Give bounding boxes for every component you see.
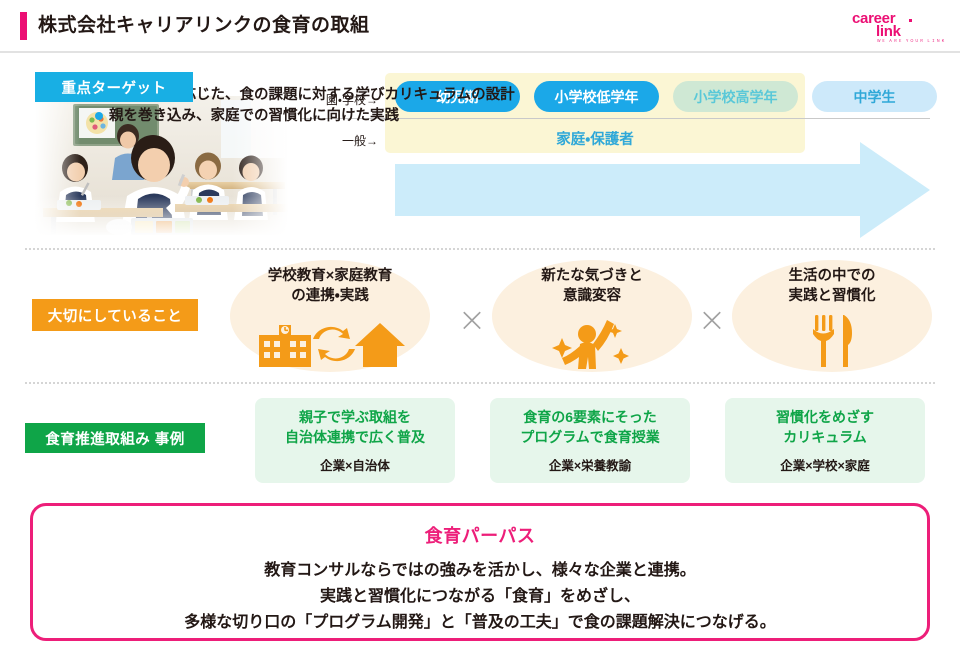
value-title-line1: 学校教育×家庭教育 [230, 266, 430, 286]
school-home-cycle-glyph [255, 313, 405, 369]
value-title: 学校教育×家庭教育 の連携・実践 [230, 266, 430, 306]
career-link-logo: career link ＷＥ ＡＲＥ ＹＯＵＲ ＬＩＮＫ [852, 11, 938, 45]
row-label-general: 一般→ [300, 132, 378, 149]
person-sparkle-glyph [544, 312, 640, 370]
target-pill-elementary-upper[interactable]: 小学校高学年 [673, 81, 798, 112]
case-title-line2: カリキュラム [776, 427, 874, 447]
fork-knife-glyph [804, 313, 860, 369]
person-sparkle-icon [492, 310, 692, 372]
section-badge-target: 重点ターゲット [35, 72, 193, 102]
case-subtitle: 企業×栄養教諭 [549, 455, 631, 474]
section-divider-top [25, 248, 935, 250]
page-title: 株式会社キャリアリンクの食育の取組 [38, 12, 370, 40]
case-title-line2: 自治体連携で広く普及 [285, 427, 425, 447]
value-card-habit: 生活の中での 実践と習慣化 [732, 258, 932, 376]
case-card[interactable]: 食育の6要素にそった プログラムで食育授業 企業×栄養教諭 [490, 398, 690, 483]
case-card[interactable]: 習慣化をめざす カリキュラム 企業×学校×家庭 [725, 398, 925, 483]
logo-tagline: ＷＥ ＡＲＥ ＹＯＵＲ ＬＩＮＫ [877, 39, 946, 44]
case-title-line2: プログラムで食育授業 [520, 427, 660, 447]
slide-root: 株式会社キャリアリンクの食育の取組 career link ＷＥ ＡＲＥ ＹＯＵ… [0, 0, 960, 664]
value-title-line2: の連携・実践 [230, 286, 430, 306]
header-divider [0, 51, 960, 53]
purpose-body: 教育コンサルならではの強みを活かし、様々な企業と連携。 実践と習慣化につながる「… [184, 558, 776, 636]
bullet-dot-icon [95, 112, 103, 120]
case-card[interactable]: 親子で学ぶ取組を 自治体連携で広く普及 企業×自治体 [255, 398, 455, 483]
case-title-line1: 親子で学ぶ取組を [285, 407, 425, 427]
case-title: 親子で学ぶ取組を 自治体連携で広く普及 [285, 407, 425, 447]
multiply-symbol: × [452, 300, 492, 340]
multiply-symbol: × [692, 300, 732, 340]
case-title-line1: 食育の6要素にそった [520, 407, 660, 427]
purpose-line: 教育コンサルならではの強みを活かし、様々な企業と連携。 [184, 558, 776, 584]
case-title: 習慣化をめざす カリキュラム [776, 407, 874, 447]
bullet-text: 親を巻き込み、家庭での習慣化に向けた実践 [109, 106, 399, 127]
school-home-cycle-icon [230, 310, 430, 372]
logo-word-link: link [876, 24, 901, 39]
purpose-title: 食育パーパス [425, 522, 536, 548]
fork-knife-icon [732, 310, 932, 372]
section-badge-values: 大切にしていること [32, 299, 198, 331]
section-badge-cases: 食育推進取組み 事例 [25, 423, 205, 453]
purpose-line: 実践と習慣化につながる「食育」をめざし、 [184, 584, 776, 610]
purpose-line: 多様な切り口の「プログラム開発」と「普及の工夫」で食の課題解決につなげる。 [184, 610, 776, 636]
case-subtitle: 企業×学校×家庭 [780, 455, 870, 474]
target-pill-juniorhigh[interactable]: 中学生 [812, 81, 937, 112]
values-row: 学校教育×家庭教育 の連携・実践 [230, 258, 950, 378]
purpose-callout-box: 食育パーパス 教育コンサルならではの強みを活かし、様々な企業と連携。 実践と習慣… [30, 503, 930, 641]
value-title-line2: 実践と習慣化 [732, 286, 932, 306]
slide-header: 株式会社キャリアリンクの食育の取組 career link ＷＥ ＡＲＥ ＹＯＵ… [0, 0, 960, 52]
value-title-line1: 新たな気づきと [492, 266, 692, 286]
logo-dot-icon [909, 19, 912, 22]
cases-row: 親子で学ぶ取組を 自治体連携で広く普及 企業×自治体 食育の6要素にそった プロ… [255, 398, 955, 488]
section-divider-bottom [25, 382, 935, 384]
value-title: 生活の中での 実践と習慣化 [732, 266, 932, 306]
case-title-line1: 習慣化をめざす [776, 407, 874, 427]
bullet-item: 親を巻き込み、家庭での習慣化に向けた実践 [95, 106, 635, 127]
value-title-line1: 生活の中での [732, 266, 932, 286]
header-accent-bar [20, 12, 27, 40]
value-card-school-home: 学校教育×家庭教育 の連携・実践 [230, 258, 430, 376]
value-card-awareness: 新たな気づきと 意識変容 [492, 258, 692, 376]
value-title: 新たな気づきと 意識変容 [492, 266, 692, 306]
case-title: 食育の6要素にそった プログラムで食育授業 [520, 407, 660, 447]
case-subtitle: 企業×自治体 [320, 455, 390, 474]
target-pill-family[interactable]: 家庭・保護者 [385, 124, 805, 152]
value-title-line2: 意識変容 [492, 286, 692, 306]
